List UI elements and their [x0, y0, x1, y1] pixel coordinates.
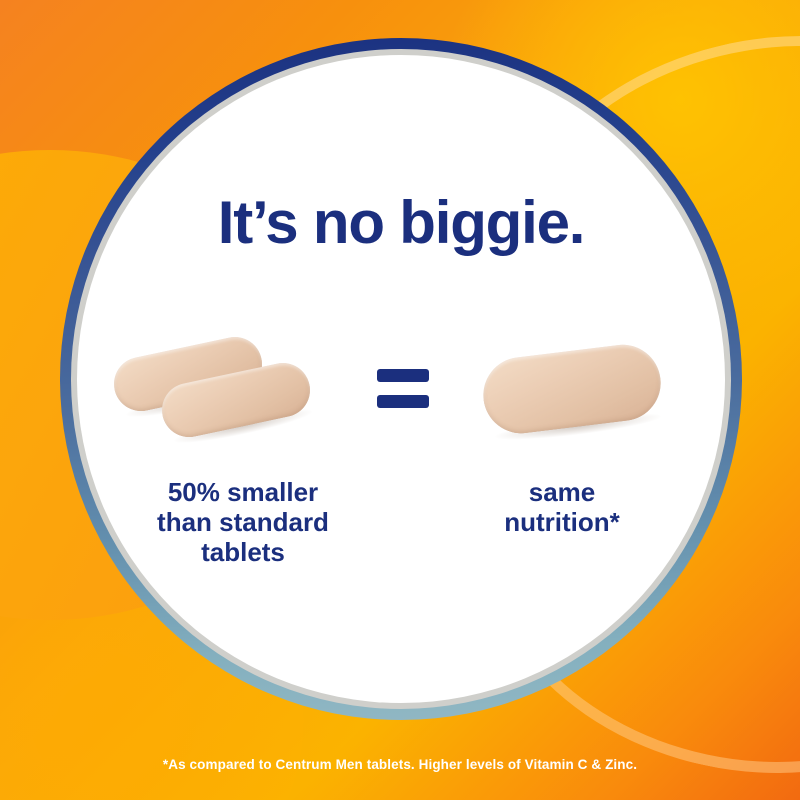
- caption-left-line-2: than standard: [85, 507, 401, 537]
- equals-sign-icon: [377, 369, 429, 413]
- caption-right-line-2: nutrition*: [417, 507, 707, 537]
- equals-bar-top: [377, 369, 429, 382]
- caption-right-line-1: same: [417, 477, 707, 507]
- promo-image: It’s no biggie. 5: [0, 0, 800, 800]
- large-tablet: [479, 340, 665, 437]
- page-title: It’s no biggie.: [77, 193, 725, 253]
- equals-bar-bottom: [377, 395, 429, 408]
- caption-right: same nutrition*: [417, 477, 707, 537]
- footnote-disclaimer: *As compared to Centrum Men tablets. Hig…: [0, 757, 800, 772]
- comparison-row: [77, 325, 725, 465]
- caption-left-line-3: tablets: [85, 537, 401, 567]
- caption-left: 50% smaller than standard tablets: [85, 477, 401, 567]
- circle-content: It’s no biggie. 5: [77, 55, 725, 703]
- caption-left-line-1: 50% smaller: [85, 477, 401, 507]
